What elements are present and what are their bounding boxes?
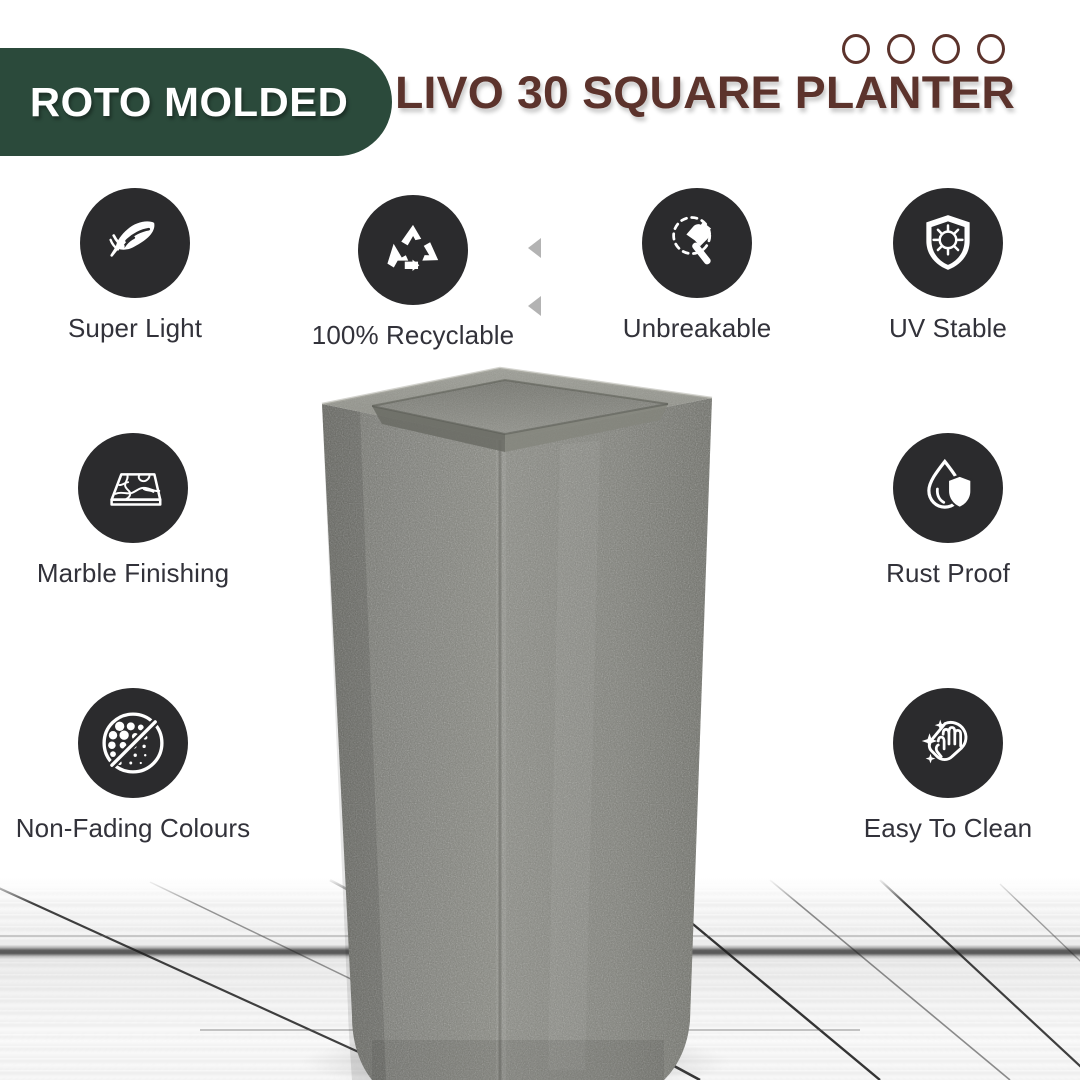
header-circle-icon-1 bbox=[842, 34, 870, 64]
shield-sun-icon bbox=[893, 188, 1003, 298]
feature-recyclable: 100% Recyclable bbox=[298, 195, 528, 351]
droplet-shield-icon bbox=[893, 433, 1003, 543]
artifact-triangle-2 bbox=[528, 296, 541, 316]
header: ROTO MOLDED LIVO 30 SQUARE PLANTER bbox=[0, 0, 1080, 160]
feature-label: Easy To Clean bbox=[864, 813, 1032, 844]
feature-label: Unbreakable bbox=[623, 313, 772, 344]
marble-slab-icon bbox=[78, 433, 188, 543]
hammer-icon bbox=[642, 188, 752, 298]
header-dots-decoration bbox=[842, 34, 1005, 64]
feature-label: Marble Finishing bbox=[37, 558, 229, 589]
feature-uv-stable: UV Stable bbox=[833, 188, 1063, 344]
fading-dots-no-icon bbox=[78, 688, 188, 798]
feather-icon bbox=[80, 188, 190, 298]
badge-roto-molded: ROTO MOLDED bbox=[0, 48, 392, 156]
feature-label: Rust Proof bbox=[886, 558, 1010, 589]
artifact-triangle-1 bbox=[528, 238, 541, 258]
feature-easy-to-clean: Easy To Clean bbox=[833, 688, 1063, 844]
feature-rust-proof: Rust Proof bbox=[833, 433, 1063, 589]
feature-label: 100% Recyclable bbox=[312, 320, 514, 351]
feature-non-fading-colours: Non-Fading Colours bbox=[18, 688, 248, 844]
feature-super-light: Super Light bbox=[20, 188, 250, 344]
feature-label: UV Stable bbox=[889, 313, 1007, 344]
feature-label: Super Light bbox=[68, 313, 202, 344]
header-circle-icon-3 bbox=[932, 34, 960, 64]
feature-unbreakable: Unbreakable bbox=[582, 188, 812, 344]
feature-marble-finishing: Marble Finishing bbox=[18, 433, 248, 589]
recycle-icon bbox=[358, 195, 468, 305]
header-circle-icon-2 bbox=[887, 34, 915, 64]
wiping-hand-icon bbox=[893, 688, 1003, 798]
header-circle-icon-4 bbox=[977, 34, 1005, 64]
badge-roto-molded-label: ROTO MOLDED bbox=[30, 79, 348, 126]
infographic-canvas: ROTO MOLDED LIVO 30 SQUARE PLANTER Super… bbox=[0, 0, 1080, 1080]
wood-floor-background bbox=[0, 878, 1080, 1080]
page-title: LIVO 30 SQUARE PLANTER bbox=[395, 67, 1015, 119]
feature-label: Non-Fading Colours bbox=[16, 813, 250, 844]
